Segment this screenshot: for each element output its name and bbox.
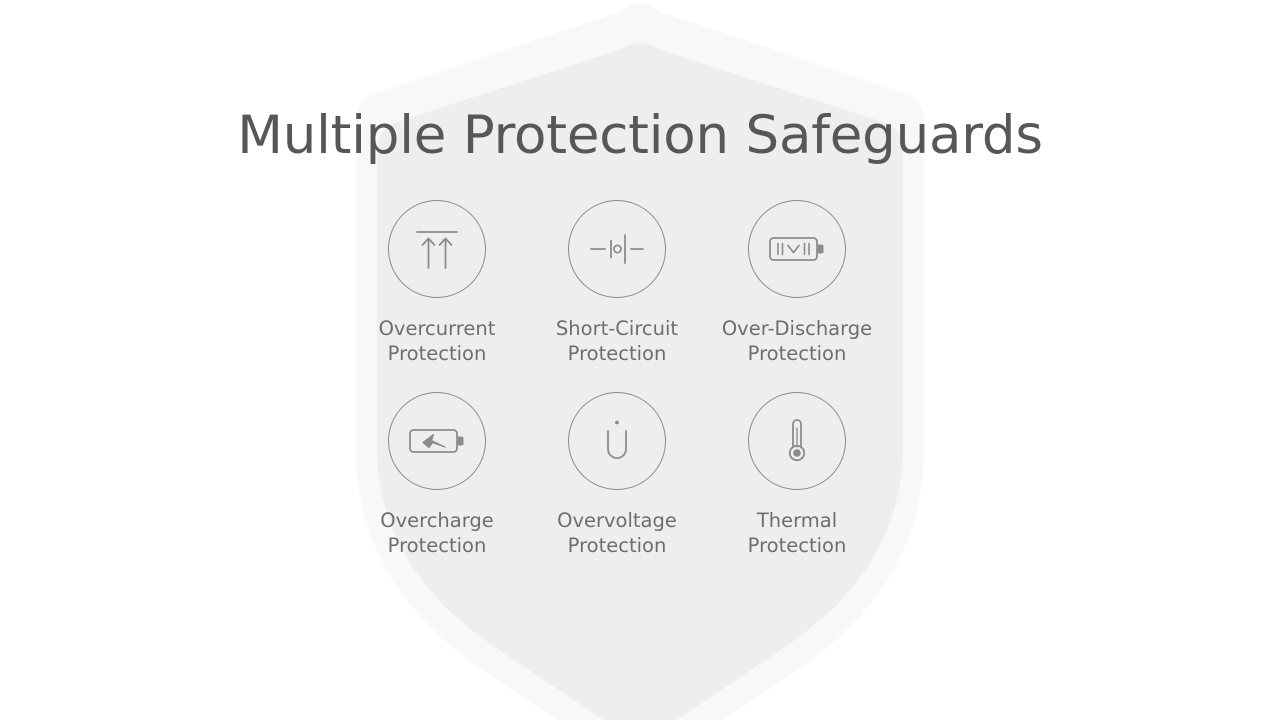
icon-circle	[388, 392, 486, 490]
feature-label: Thermal Protection	[748, 509, 847, 558]
feature-short-circuit-protection[interactable]: Short-Circuit Protection	[527, 200, 707, 366]
voltage-u-icon	[587, 411, 647, 471]
slide-canvas: Multiple Protection Safeguards	[0, 0, 1280, 720]
overcurrent-arrows-icon	[407, 219, 467, 279]
feature-thermal-protection[interactable]: Thermal Protection	[707, 392, 887, 558]
page-title: Multiple Protection Safeguards	[0, 104, 1280, 168]
feature-overcurrent-protection[interactable]: Overcurrent Protection	[347, 200, 527, 366]
thermometer-icon	[767, 411, 827, 471]
battery-charging-bolt-icon	[405, 409, 469, 473]
icon-circle	[568, 392, 666, 490]
feature-label: Overcharge Protection	[380, 509, 494, 558]
feature-label: Overvoltage Protection	[557, 509, 677, 558]
battery-discharge-icon	[765, 217, 829, 281]
icon-circle	[568, 200, 666, 298]
features-grid: Overcurrent Protection Short-Circuit Pr	[347, 200, 927, 558]
feature-overvoltage-protection[interactable]: Overvoltage Protection	[527, 392, 707, 558]
feature-overcharge-protection[interactable]: Overcharge Protection	[347, 392, 527, 558]
icon-circle	[388, 200, 486, 298]
short-circuit-break-icon	[587, 219, 647, 279]
feature-label: Overcurrent Protection	[379, 317, 496, 366]
icon-circle	[748, 200, 846, 298]
icon-circle	[748, 392, 846, 490]
features-row: Overcharge Protection Overvoltage Protec…	[347, 392, 927, 558]
feature-over-discharge-protection[interactable]: Over-Discharge Protection	[707, 200, 887, 366]
feature-label: Short-Circuit Protection	[556, 317, 678, 366]
feature-label: Over-Discharge Protection	[722, 317, 872, 366]
features-row: Overcurrent Protection Short-Circuit Pr	[347, 200, 927, 366]
